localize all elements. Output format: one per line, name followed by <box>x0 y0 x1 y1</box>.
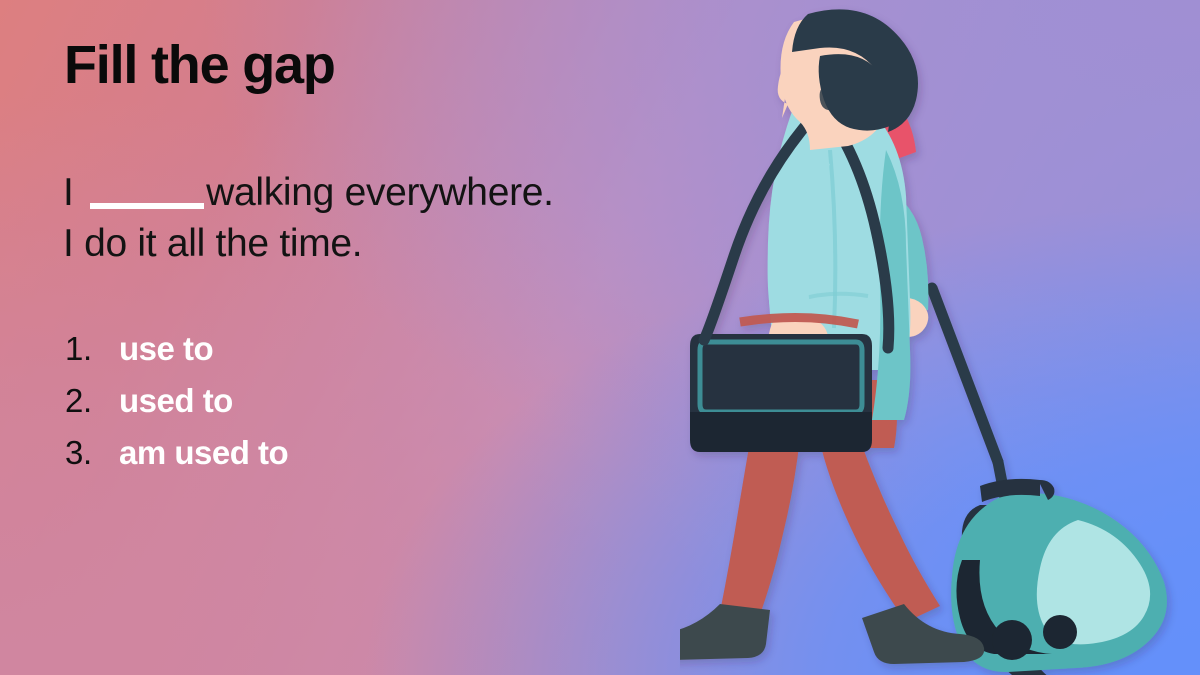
answer-option-3[interactable]: 3. am used to <box>65 434 288 486</box>
text-content-panel: Fill the gap I walking everywhere. I do … <box>62 0 722 675</box>
answer-option-3-label: am used to <box>119 434 288 472</box>
answer-option-2[interactable]: 2. used to <box>65 382 288 434</box>
illustration-man-walking-with-suitcase <box>680 0 1200 675</box>
suitcase-wheel <box>1043 615 1077 649</box>
answer-option-1[interactable]: 1. use to <box>65 330 288 382</box>
question-line-2: I do it all the time. <box>63 218 554 269</box>
suitcase-icon <box>932 288 1167 675</box>
question-line-1-before-gap: I <box>63 171 84 214</box>
leg-front <box>720 430 800 620</box>
page-title: Fill the gap <box>64 38 335 92</box>
gap-blank <box>84 166 206 205</box>
answer-option-1-label: use to <box>119 330 213 368</box>
leg-back <box>820 440 940 622</box>
answer-option-3-number: 3. <box>65 434 119 472</box>
slide-canvas: Fill the gap I walking everywhere. I do … <box>0 0 1200 675</box>
answer-option-2-number: 2. <box>65 382 119 420</box>
question-line-1: I walking everywhere. <box>63 166 554 218</box>
answer-option-1-number: 1. <box>65 330 119 368</box>
question-line-1-after-gap: walking everywhere. <box>206 171 554 214</box>
answer-options-list: 1. use to 2. used to 3. am used to <box>65 330 288 486</box>
question-prompt: I walking everywhere. I do it all the ti… <box>63 166 554 270</box>
suitcase-wheel <box>992 620 1032 660</box>
answer-option-2-label: used to <box>119 382 233 420</box>
